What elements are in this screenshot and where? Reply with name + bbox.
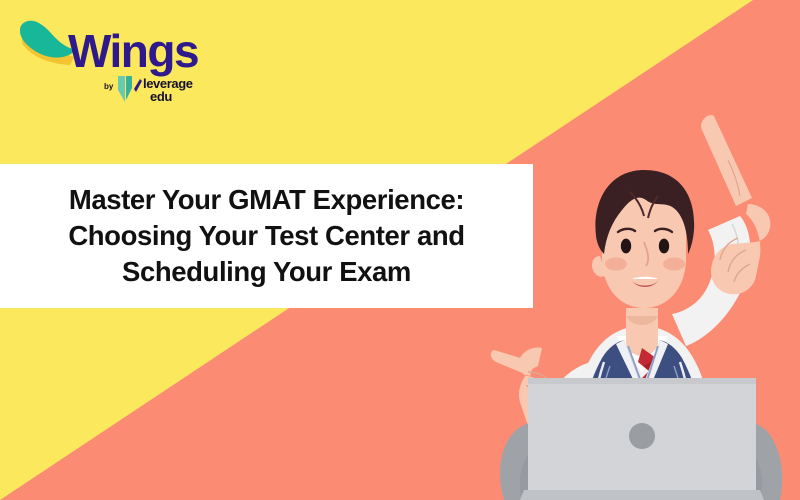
left-blush: [605, 258, 627, 271]
page-title: Master Your GMAT Experience: Choosing Yo…: [18, 182, 515, 289]
title-band: Master Your GMAT Experience: Choosing Yo…: [0, 164, 533, 308]
right-hand-pointing-icon: [701, 115, 770, 294]
page-title-line-2: Choosing Your Test Center and: [18, 218, 515, 254]
page-title-line-3: Scheduling Your Exam: [18, 254, 515, 290]
right-eye-icon: [659, 239, 669, 254]
logo-subbrand-edu: edu: [150, 89, 172, 104]
leverage-check-icon: [118, 76, 142, 102]
head-with-dark-hair: [592, 170, 694, 308]
logo-by-label: by: [104, 82, 114, 91]
laptop-logo-icon: [629, 423, 655, 449]
wings-logo[interactable]: Wings by leverage edu: [12, 14, 202, 106]
logo-wordmark: Wings: [68, 25, 198, 77]
gray-laptop: [520, 378, 764, 500]
left-eye-icon: [621, 239, 631, 254]
banner-root: Wings by leverage edu Master Your GMAT E…: [0, 0, 800, 500]
right-blush: [663, 258, 685, 271]
page-title-line-1: Master Your GMAT Experience:: [18, 182, 515, 218]
